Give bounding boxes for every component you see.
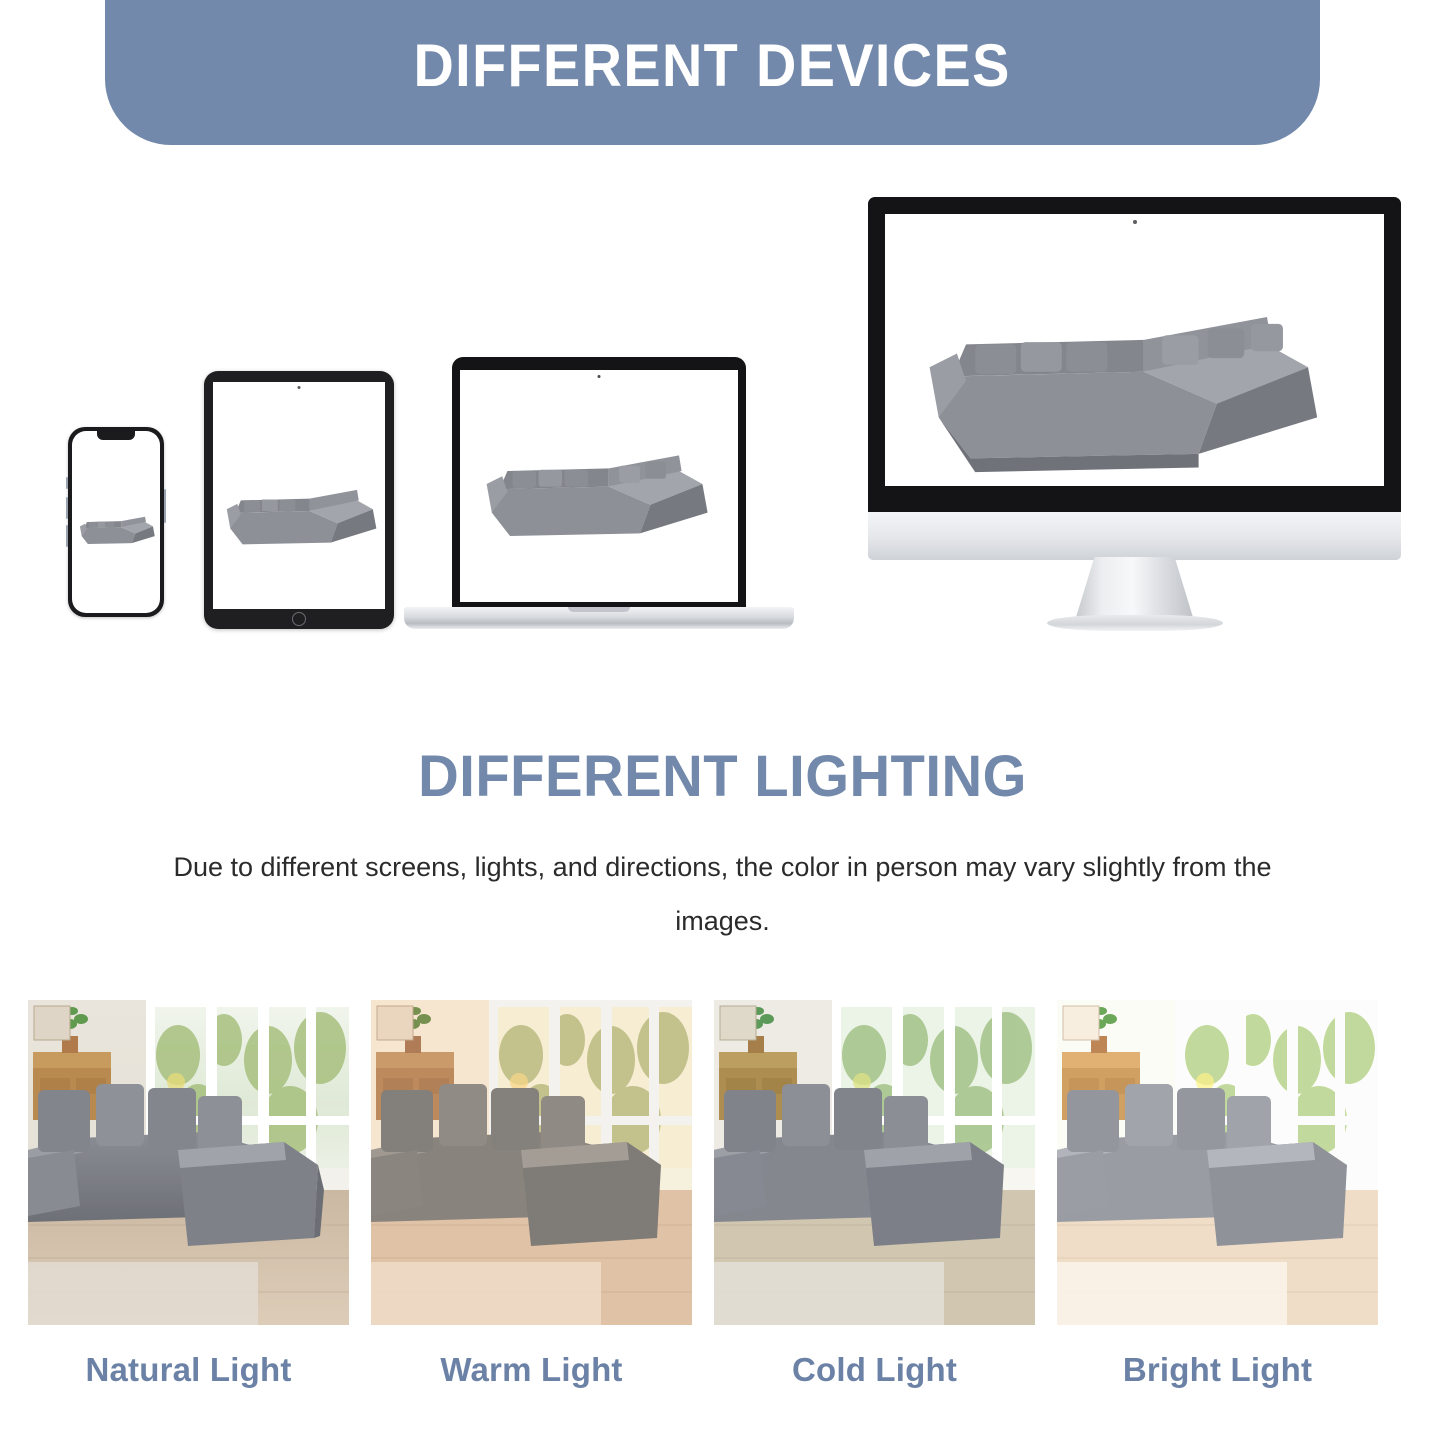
lighting-cell-cold: Cold Light — [714, 1000, 1035, 1389]
sofa-image-monitor — [885, 214, 1384, 486]
page-title: DIFFERENT DEVICES — [414, 36, 1011, 100]
lighting-heading: DIFFERENT LIGHTING — [22, 743, 1424, 810]
phone-power-button — [164, 489, 166, 523]
infographic-page: DIFFERENT DEVICES — [0, 0, 1445, 1445]
lighting-label-warm: Warm Light — [371, 1351, 692, 1389]
laptop-screen — [460, 370, 738, 602]
lighting-photo-natural[interactable] — [28, 1000, 349, 1325]
phone-screen — [72, 431, 160, 613]
tablet-home-button[interactable] — [292, 612, 306, 626]
device-laptop — [404, 357, 794, 635]
tablet-screen — [213, 382, 385, 609]
lighting-note: Due to different screens, lights, and di… — [163, 840, 1283, 948]
device-tablet — [204, 371, 394, 629]
devices-row — [0, 175, 1445, 665]
sofa-image-tablet — [213, 382, 385, 609]
room-scene-bright — [1057, 1000, 1378, 1325]
lighting-cell-warm: Warm Light — [371, 1000, 692, 1389]
room-scene-cold — [714, 1000, 1035, 1325]
lighting-photo-warm[interactable] — [371, 1000, 692, 1325]
lighting-cell-bright: Bright Light — [1057, 1000, 1378, 1389]
monitor-stand-neck — [1076, 557, 1194, 619]
sofa-image-laptop — [460, 370, 738, 602]
lighting-photo-bright[interactable] — [1057, 1000, 1378, 1325]
lighting-photo-grid: Natural Light — [28, 1000, 1420, 1389]
lighting-label-bright: Bright Light — [1057, 1351, 1378, 1389]
room-scene-natural — [28, 1000, 349, 1325]
header-banner: DIFFERENT DEVICES — [105, 0, 1320, 145]
phone-notch-icon — [97, 431, 135, 440]
lighting-label-cold: Cold Light — [714, 1351, 1035, 1389]
device-phone — [68, 427, 164, 617]
monitor-chin — [868, 512, 1401, 560]
monitor-stand-foot — [1047, 615, 1223, 631]
tablet-camera-icon — [298, 386, 301, 389]
device-monitor — [868, 197, 1401, 642]
room-scene-warm — [371, 1000, 692, 1325]
monitor-screen — [885, 214, 1384, 486]
laptop-lid — [452, 357, 746, 611]
monitor-camera-icon — [1133, 220, 1137, 224]
monitor-bezel — [868, 197, 1401, 512]
laptop-camera-icon — [598, 375, 601, 378]
lighting-photo-cold[interactable] — [714, 1000, 1035, 1325]
sofa-image-phone — [72, 431, 160, 613]
laptop-trackpad-notch — [568, 607, 630, 612]
laptop-base — [404, 607, 794, 629]
lighting-cell-natural: Natural Light — [28, 1000, 349, 1389]
lighting-label-natural: Natural Light — [28, 1351, 349, 1389]
